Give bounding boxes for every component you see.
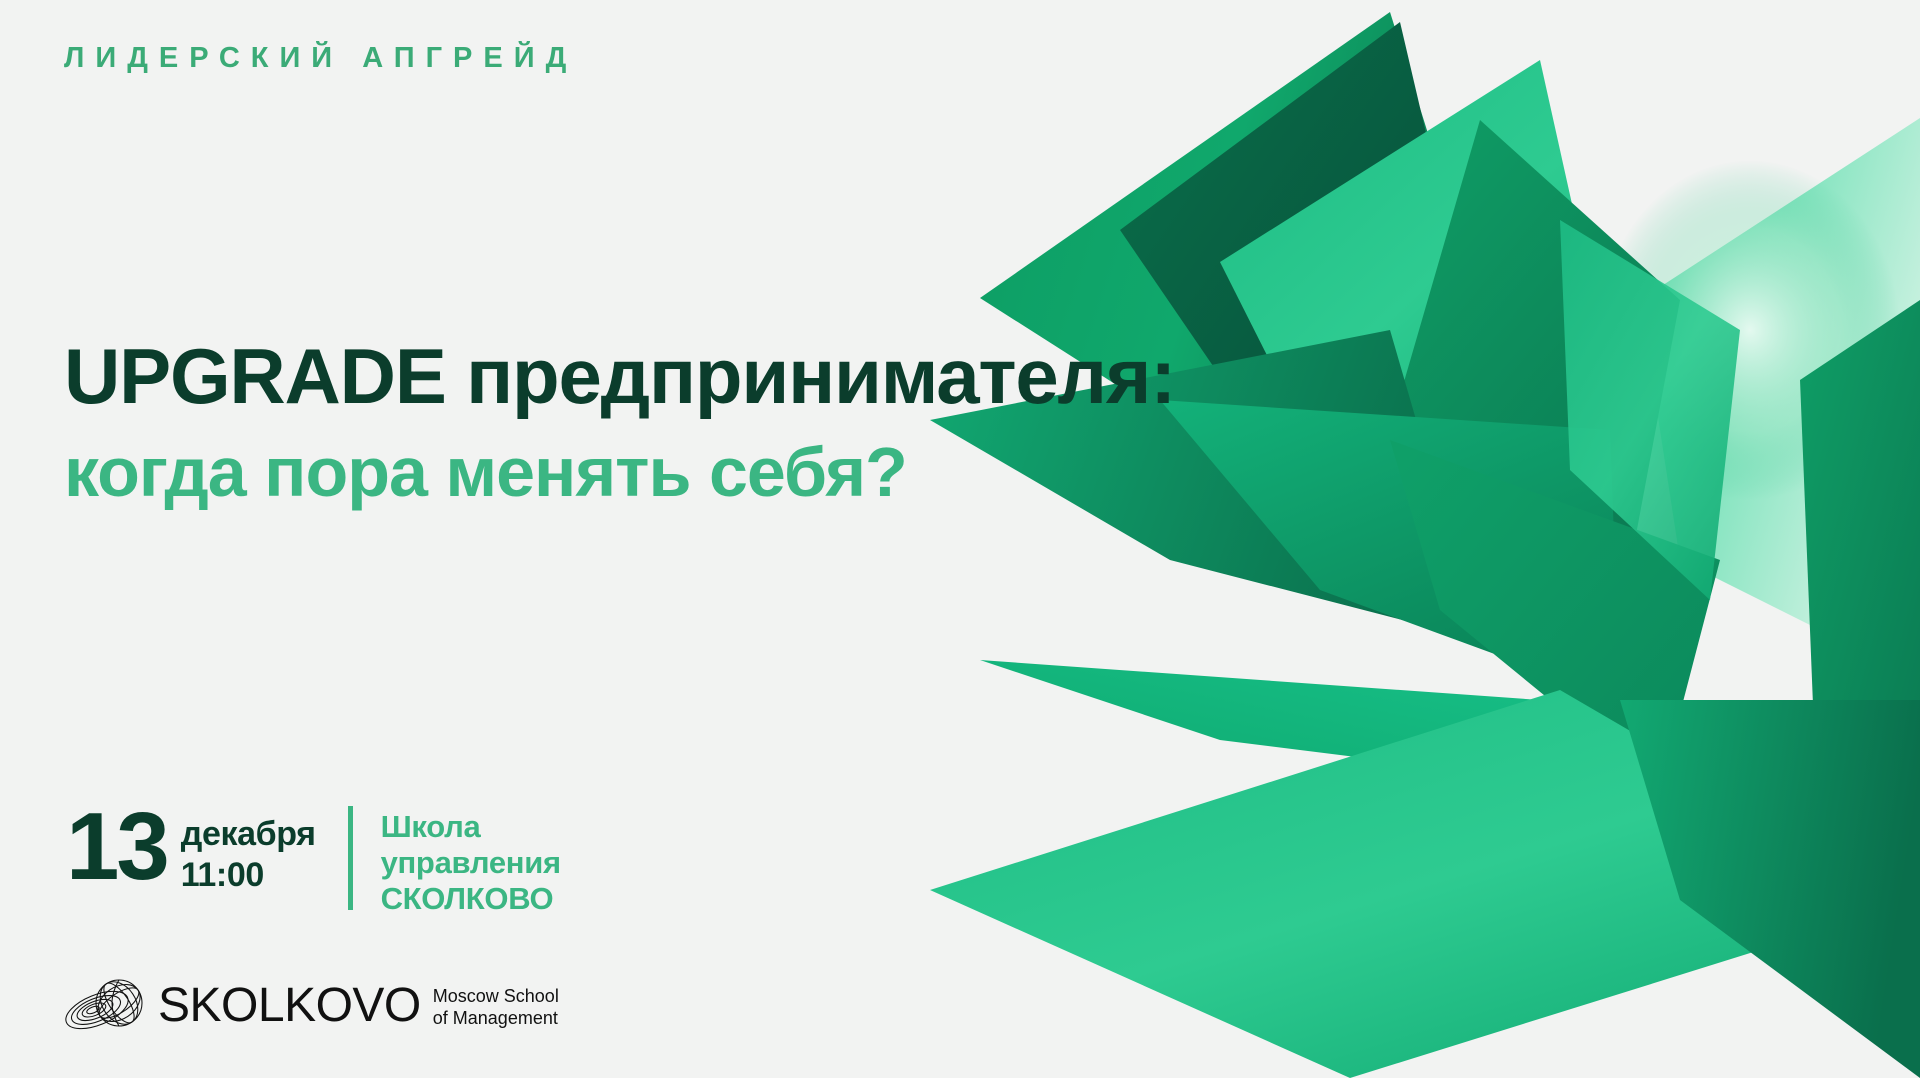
shape-bottom-wedge [1620,700,1920,1078]
headline-line-2: когда пора менять себя? [64,437,1384,507]
shape-right-column [1800,300,1920,960]
logo-tagline-line-1: Moscow School [433,986,559,1008]
event-date-group: 13 декабря 11:00 [66,806,316,897]
artwork-svg [920,0,1920,1078]
shape-spear-left [980,660,1620,790]
shape-blade-7 [1390,440,1720,790]
headline-block: UPGRADE предпринимателя: когда пора меня… [64,337,1384,507]
skolkovo-globe-icon [62,975,154,1037]
vertical-divider [348,806,353,910]
event-date-detail: декабря 11:00 [181,806,316,897]
event-meta-block: 13 декабря 11:00 Школа управления СКОЛКО… [66,806,561,917]
shape-light-panel [1640,118,1920,680]
school-line-2: управления [381,845,561,881]
shape-blade-8 [1560,220,1740,600]
school-line-3: СКОЛКОВО [381,881,561,917]
shape-blade-4 [1390,120,1680,620]
school-name: Школа управления СКОЛКОВО [381,806,561,917]
eyebrow-label: ЛИДЕРСКИЙ АПГРЕЙД [64,42,577,75]
shape-bottom-sheet [930,690,1920,1078]
decorative-geometric-artwork [920,0,1920,1078]
shape-glow [1600,160,1900,500]
headline-line-1: UPGRADE предпринимателя: [64,337,1384,415]
logo-wordmark: SKOLKOVO [158,982,421,1030]
school-line-1: Школа [381,809,561,845]
event-time: 11:00 [181,855,316,896]
logo-tagline-line-2: of Management [433,1008,559,1030]
logo-tagline: Moscow School of Management [433,983,559,1029]
event-month: декабря [181,814,316,855]
event-day: 13 [66,806,167,889]
skolkovo-logo: SKOLKOVO Moscow School of Management [62,975,559,1037]
globe-icon-svg [62,975,154,1037]
